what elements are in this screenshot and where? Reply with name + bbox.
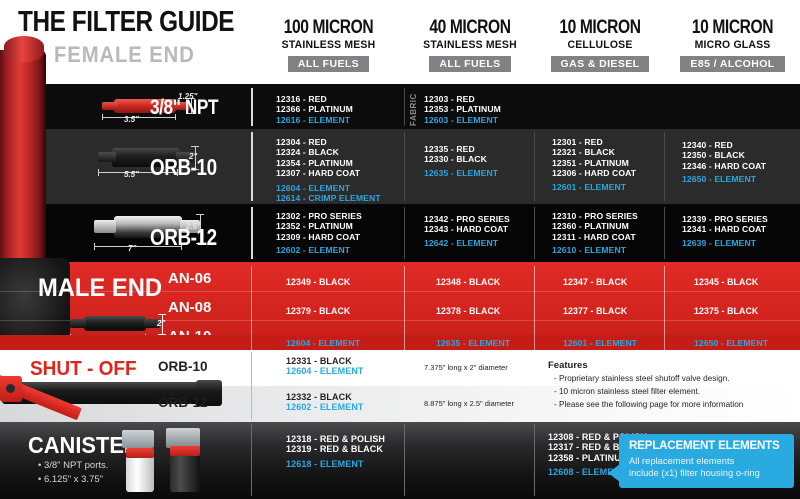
column-divider [664, 207, 665, 259]
dim-length: 7" [128, 244, 136, 253]
column-divider [534, 132, 535, 201]
column-divider [404, 424, 405, 496]
shutoff-dim-orb12: 8.875" long x 2.5" diameter [424, 399, 514, 408]
male-size-an06: AN-06 [168, 270, 211, 287]
fabric-label: FABRIC [409, 92, 418, 126]
column-header-100-micron: 100 MICRON STAINLESS MESH ALL FUELS [252, 18, 405, 72]
fuel-badge: E85 / ALCOHOL [680, 56, 784, 72]
male-element-col3: 12601 - ELEMENT [563, 338, 637, 348]
parts-cell-r1c1: 12316 - RED 12366 - PLATINUM 12616 - ELE… [276, 94, 353, 125]
parts-cell-r3c1: 12302 - PRO SERIES 12352 - PLATINUM 1230… [276, 211, 362, 256]
canister-bullet: • 3/8" NPT ports. [38, 460, 108, 471]
column-divider [534, 424, 535, 496]
shutoff-parts-orb12: 12332 - BLACK 12602 - ELEMENT [286, 392, 364, 413]
product-image-canisters [120, 428, 230, 494]
parts-cell-r1c2: 12303 - RED 12353 - PLATINUM 12603 - ELE… [424, 94, 501, 125]
badge-title: REPLACEMENT ELEMENTS [629, 439, 780, 452]
column-header-10-micron-microglass: 10 MICRON MICRO GLASS E85 / ALCOHOL [665, 18, 800, 72]
feature-item: - Please see the following page for more… [554, 400, 743, 409]
row-label-orb10: ORB-10 [150, 154, 217, 181]
column-divider [251, 352, 252, 420]
fuel-badge: GAS & DIESEL [551, 56, 650, 72]
parts-cell-r3c3: 12310 - PRO SERIES 12360 - PLATINUM 1231… [552, 211, 638, 256]
column-divider [534, 207, 535, 259]
fuel-badge: ALL FUELS [429, 56, 510, 72]
column-divider [251, 132, 253, 201]
male-element-col2: 12635 - ELEMENT [436, 338, 510, 348]
column-divider [251, 88, 253, 126]
canister-bullet: • 6.125" x 3.75" [38, 474, 103, 485]
canister-parts-col1: 12318 - RED & POLISH 12319 - RED & BLACK… [286, 434, 385, 469]
shutoff-size-orb10: ORB-10 [158, 359, 208, 374]
column-divider [251, 424, 252, 496]
dim-diameter: 2" [157, 319, 165, 328]
parts-cell-r2c3: 12301 - RED 12321 - BLACK 12351 - PLATIN… [552, 137, 636, 192]
shutoff-section: SHUT - OFF ORB-10 ORB-12 12331 - BLACK 1… [0, 350, 800, 422]
shutoff-size-orb12: ORB-12 [158, 395, 208, 410]
page-title: THE FILTER GUIDE [18, 6, 234, 39]
canister-section: CANISTER • 3/8" NPT ports. • 6.125" x 3.… [0, 422, 800, 499]
row-label-npt: 3/8" NPT [150, 96, 218, 120]
dim-length: 5.5" [124, 170, 139, 179]
male-size-an08: AN-08 [168, 299, 211, 316]
column-header-40-micron: 40 MICRON STAINLESS MESH ALL FUELS [405, 18, 535, 72]
column-divider [251, 207, 253, 259]
shutoff-dim-orb10: 7.375" long x 2" diameter [424, 363, 508, 372]
column-header-10-micron-cellulose: 10 MICRON CELLULOSE GAS & DIESEL [535, 18, 665, 72]
shutoff-heading: SHUT - OFF [30, 358, 137, 381]
shutoff-parts-orb10: 12331 - BLACK 12604 - ELEMENT [286, 356, 364, 377]
male-element-col1: 12604 - ELEMENT [286, 338, 360, 348]
fuel-badge: ALL FUELS [288, 56, 369, 72]
parts-cell-r2c4: 12340 - RED 12350 - BLACK 12346 - HARD C… [682, 140, 766, 185]
feature-item: - 10 micron stainless steel filter eleme… [554, 387, 700, 396]
header: THE FILTER GUIDE FEMALE END 100 MICRON S… [0, 0, 800, 84]
dim-length: 3.5" [124, 115, 139, 124]
replacement-elements-badge: REPLACEMENT ELEMENTS All replacement ele… [619, 434, 794, 488]
male-element-strip: 12604 - ELEMENT 12635 - ELEMENT 12601 - … [0, 335, 800, 350]
female-end-table: 3.5" 1.25" 3/8" NPT 12316 - RED 12366 - … [0, 84, 800, 262]
parts-cell-r2c2: 12335 - RED 12330 - BLACK 12635 - ELEMEN… [424, 144, 498, 178]
female-end-heading: FEMALE END [54, 42, 195, 68]
column-divider [404, 88, 405, 126]
parts-cell-r3c2: 12342 - PRO SERIES 12343 - HARD COAT 126… [424, 214, 510, 248]
column-divider [404, 207, 405, 259]
features-heading: Features [548, 360, 588, 371]
parts-cell-r3c4: 12339 - PRO SERIES 12341 - HARD COAT 126… [682, 214, 768, 248]
filter-guide-page: THE FILTER GUIDE FEMALE END 100 MICRON S… [0, 0, 800, 499]
badge-subtitle: All replacement elements include (x1) fi… [629, 455, 760, 478]
column-divider [664, 132, 665, 201]
male-end-heading: MALE END [38, 274, 162, 303]
male-element-col4: 12650 - ELEMENT [694, 338, 768, 348]
column-divider [404, 132, 405, 201]
row-label-orb12: ORB-12 [150, 224, 217, 251]
feature-item: - Proprietary stainless steel shutoff va… [554, 374, 730, 383]
parts-cell-r2c1: 12304 - RED 12324 - BLACK 12354 - PLATIN… [276, 137, 381, 203]
